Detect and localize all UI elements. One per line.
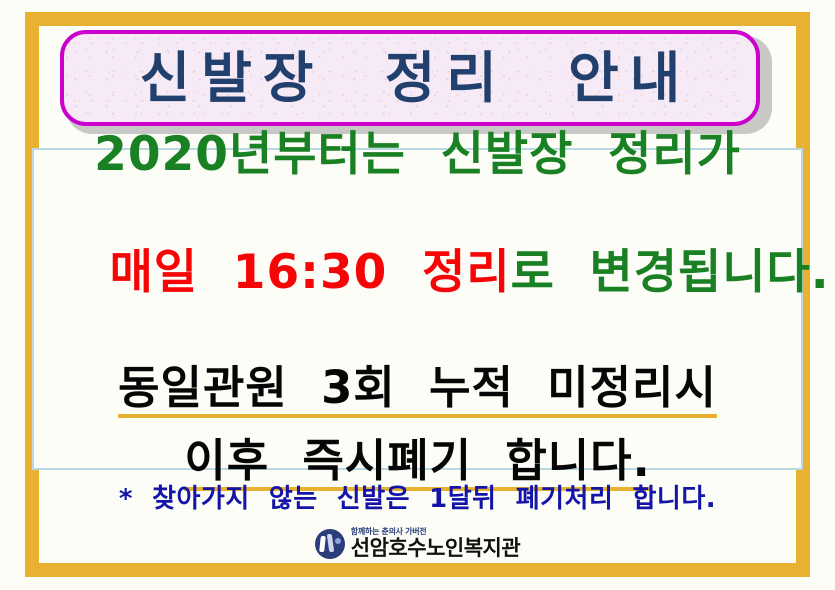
footnote-text: * 찾아가지 않는 신발은 1달뒤 폐기처리 합니다. [0, 478, 835, 515]
org-name: 선암호수노인복지관 [351, 538, 520, 559]
poster-frame-top [25, 12, 810, 26]
notice-poster: 신발장 정리 안내 2020년부터는 신발장 정리가 매일 16:30 정리로 … [0, 0, 835, 590]
org-emblem-icon [315, 529, 345, 559]
message-panel: 2020년부터는 신발장 정리가 매일 16:30 정리로 변경됩니다. 동일관… [32, 148, 803, 470]
message-line-1: 2020년부터는 신발장 정리가 [94, 131, 741, 178]
organization-logo: 함께하는 춘의사 가버전 선암호수노인복지관 [0, 528, 835, 559]
poster-frame-bottom [25, 563, 810, 577]
org-emblem-dot-icon [335, 538, 341, 544]
message-line-2-tail: 로 변경됩니다. [511, 245, 830, 300]
poster-title: 신발장 정리 안내 [129, 51, 692, 106]
message-line-3: 동일관원 3회 누적 미정리시 [118, 365, 717, 418]
org-logo-textblock: 함께하는 춘의사 가버전 선암호수노인복지관 [351, 528, 520, 559]
org-tagline: 함께하는 춘의사 가버전 [351, 528, 427, 536]
message-line-2: 매일 16:30 정리로 변경됩니다. [5, 202, 829, 343]
title-plate: 신발장 정리 안내 [60, 30, 760, 126]
message-line-2-highlight: 매일 16:30 정리 [110, 245, 511, 300]
